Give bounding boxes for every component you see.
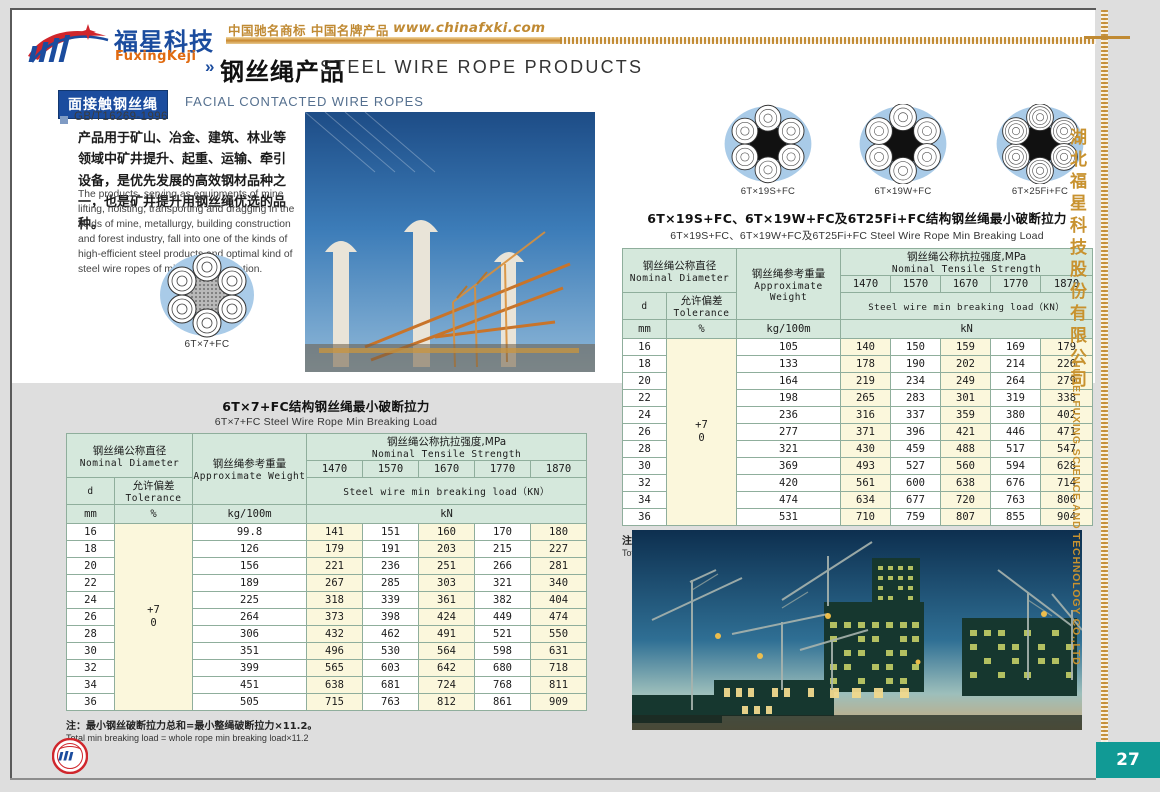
header-nominal-diameter: 钢丝绳公称直径 Nominal Diameter bbox=[67, 434, 193, 478]
cell-breaking-load-1770: 517 bbox=[991, 441, 1041, 458]
cell-diameter: 32 bbox=[623, 475, 667, 492]
right-table-title-english: 6T×19S+FC、6T×19W+FC及6T25Fi+FC Steel Wire… bbox=[622, 228, 1092, 243]
cell-breaking-load-1570: 527 bbox=[891, 458, 941, 475]
cell-breaking-load-1470: 267 bbox=[307, 575, 363, 592]
cell-diameter: 30 bbox=[67, 643, 115, 660]
unit-tolerance: % bbox=[115, 505, 193, 524]
cell-weight: 225 bbox=[193, 592, 307, 609]
header-tolerance: 允许偏差 Tolerance bbox=[667, 293, 737, 320]
cell-breaking-load-1670: 361 bbox=[419, 592, 475, 609]
table-units-row: mm % kg/100m kN bbox=[623, 320, 1093, 339]
header-strength-1670: 1670 bbox=[419, 461, 475, 478]
cell-weight: 99.8 bbox=[193, 524, 307, 541]
construction-photo-bottom bbox=[632, 530, 1082, 730]
left-spec-table: 钢丝绳公称直径 Nominal Diameter 钢丝绳参考重量 Approxi… bbox=[66, 433, 587, 711]
right-table-title-chinese: 6T×19S+FC、6T×19W+FC及6T25Fi+FC结构钢丝绳最小破断拉力 bbox=[622, 208, 1092, 227]
cell-weight: 351 bbox=[193, 643, 307, 660]
left-table-title-english: 6T×7+FC Steel Wire Rope Min Breaking Loa… bbox=[66, 416, 586, 428]
cell-breaking-load-1570: 396 bbox=[891, 424, 941, 441]
cell-breaking-load-1570: 151 bbox=[363, 524, 419, 541]
cell-breaking-load-1670: 303 bbox=[419, 575, 475, 592]
standard-bullet-icon bbox=[60, 116, 68, 124]
cell-breaking-load-1470: 493 bbox=[841, 458, 891, 475]
cell-breaking-load-1870: 281 bbox=[531, 558, 587, 575]
cell-breaking-load-1670: 642 bbox=[419, 660, 475, 677]
cell-weight: 164 bbox=[737, 373, 841, 390]
cell-breaking-load-1670: 249 bbox=[941, 373, 991, 390]
cell-breaking-load-1470: 265 bbox=[841, 390, 891, 407]
cell-breaking-load-1670: 564 bbox=[419, 643, 475, 660]
cell-breaking-load-1470: 221 bbox=[307, 558, 363, 575]
left-table-body: 16+7099.81411511601701801812617919120321… bbox=[67, 524, 587, 711]
header-breaking-load: Steel wire min breaking load（KN） bbox=[307, 478, 587, 505]
cell-diameter: 36 bbox=[623, 509, 667, 526]
cell-breaking-load-1570: 759 bbox=[891, 509, 941, 526]
left-table-block: 6T×7+FC结构钢丝绳最小破断拉力 6T×7+FC Steel Wire Ro… bbox=[66, 396, 586, 743]
cell-breaking-load-1770: 266 bbox=[475, 558, 531, 575]
header-breaking-load: Steel wire min breaking load（KN） bbox=[841, 293, 1093, 320]
cell-diameter: 28 bbox=[67, 626, 115, 643]
page-number-badge: 27 bbox=[1096, 742, 1160, 778]
cell-diameter: 28 bbox=[623, 441, 667, 458]
cell-weight: 306 bbox=[193, 626, 307, 643]
rope-cross-section-group: 6T×19S+FC 6T×19W+FC bbox=[720, 104, 1090, 196]
cell-breaking-load-1770: 264 bbox=[991, 373, 1041, 390]
cell-breaking-load-1470: 178 bbox=[841, 356, 891, 373]
header-approx-weight: 钢丝绳参考重量 Approximate Weight bbox=[193, 434, 307, 505]
header-strength-1670: 1670 bbox=[941, 276, 991, 293]
product-title-english: STEEL WIRE ROPE PRODUCTS bbox=[320, 57, 643, 78]
cell-breaking-load-1670: 720 bbox=[941, 492, 991, 509]
cell-breaking-load-1870: 404 bbox=[531, 592, 587, 609]
left-border-rule bbox=[10, 8, 12, 778]
cell-breaking-load-1470: 316 bbox=[841, 407, 891, 424]
cell-diameter: 36 bbox=[67, 694, 115, 711]
header-strength-1870: 1870 bbox=[531, 461, 587, 478]
cell-breaking-load-1470: 496 bbox=[307, 643, 363, 660]
table-header-row: 钢丝绳公称直径 Nominal Diameter 钢丝绳参考重量 Approxi… bbox=[623, 249, 1093, 276]
catalog-page: 福星科技 FuxingKeji 中国驰名商标 中国名牌产品 www.chinaf… bbox=[0, 0, 1160, 792]
cell-breaking-load-1770: 382 bbox=[475, 592, 531, 609]
top-border-rule bbox=[10, 8, 1096, 10]
right-spec-table: 钢丝绳公称直径 Nominal Diameter 钢丝绳参考重量 Approxi… bbox=[622, 248, 1093, 526]
unit-tolerance: % bbox=[667, 320, 737, 339]
company-seal-emblem-icon bbox=[52, 738, 88, 774]
cell-diameter: 20 bbox=[623, 373, 667, 390]
cell-breaking-load-1770: 521 bbox=[475, 626, 531, 643]
cell-breaking-load-1770: 861 bbox=[475, 694, 531, 711]
cell-breaking-load-1470: 373 bbox=[307, 609, 363, 626]
cell-breaking-load-1670: 812 bbox=[419, 694, 475, 711]
cell-breaking-load-1570: 234 bbox=[891, 373, 941, 390]
cell-weight: 399 bbox=[193, 660, 307, 677]
cell-breaking-load-1670: 251 bbox=[419, 558, 475, 575]
company-logo: 福星科技 FuxingKeji bbox=[26, 20, 216, 68]
header-strength-1470: 1470 bbox=[841, 276, 891, 293]
table-row: 16+70105140150159169179 bbox=[623, 339, 1093, 356]
cell-weight: 277 bbox=[737, 424, 841, 441]
cell-breaking-load-1870: 474 bbox=[531, 609, 587, 626]
cell-diameter: 16 bbox=[67, 524, 115, 541]
table-units-row: mm % kg/100m kN bbox=[67, 505, 587, 524]
cell-diameter: 20 bbox=[67, 558, 115, 575]
cell-breaking-load-1770: 215 bbox=[475, 541, 531, 558]
cell-weight: 264 bbox=[193, 609, 307, 626]
cell-breaking-load-1870: 471 bbox=[1041, 424, 1093, 441]
unit-diameter: mm bbox=[67, 505, 115, 524]
cell-breaking-load-1770: 449 bbox=[475, 609, 531, 626]
cell-breaking-load-1770: 763 bbox=[991, 492, 1041, 509]
cell-breaking-load-1870: 714 bbox=[1041, 475, 1093, 492]
cell-breaking-load-1570: 337 bbox=[891, 407, 941, 424]
cell-breaking-load-1770: 676 bbox=[991, 475, 1041, 492]
cell-breaking-load-1470: 634 bbox=[841, 492, 891, 509]
section-badge-english: FACIAL CONTACTED WIRE ROPES bbox=[185, 94, 424, 109]
rope-caption-left: 6T×7+FC bbox=[152, 339, 262, 350]
cell-diameter: 18 bbox=[67, 541, 115, 558]
cell-breaking-load-1870: 631 bbox=[531, 643, 587, 660]
sidebar-company-chinese: 湖北福星科技股份有限公司 bbox=[1063, 128, 1089, 392]
left-table-title-chinese: 6T×7+FC结构钢丝绳最小破断拉力 bbox=[66, 396, 586, 415]
cell-breaking-load-1470: 561 bbox=[841, 475, 891, 492]
cell-breaking-load-1670: 203 bbox=[419, 541, 475, 558]
vertical-gold-strip-dots bbox=[1101, 10, 1108, 778]
cell-breaking-load-1770: 170 bbox=[475, 524, 531, 541]
header-nominal-diameter: 钢丝绳公称直径 Nominal Diameter bbox=[623, 249, 737, 293]
cell-diameter: 32 bbox=[67, 660, 115, 677]
cell-breaking-load-1670: 202 bbox=[941, 356, 991, 373]
cell-breaking-load-1570: 530 bbox=[363, 643, 419, 660]
cell-breaking-load-1870: 340 bbox=[531, 575, 587, 592]
header-tolerance: 允许偏差 Tolerance bbox=[115, 478, 193, 505]
cell-weight: 236 bbox=[737, 407, 841, 424]
header-d-symbol: d bbox=[623, 293, 667, 320]
product-title-arrow-icon: » bbox=[205, 57, 214, 77]
table-subheader-row: d 允许偏差 Tolerance Steel wire min breaking… bbox=[623, 293, 1093, 320]
unit-weight: kg/100m bbox=[193, 505, 307, 524]
cell-weight: 156 bbox=[193, 558, 307, 575]
cell-diameter: 22 bbox=[623, 390, 667, 407]
cell-breaking-load-1870: 904 bbox=[1041, 509, 1093, 526]
cell-breaking-load-1470: 179 bbox=[307, 541, 363, 558]
cell-breaking-load-1470: 318 bbox=[307, 592, 363, 609]
cell-breaking-load-1470: 638 bbox=[307, 677, 363, 694]
cell-diameter: 34 bbox=[623, 492, 667, 509]
cell-breaking-load-1570: 763 bbox=[363, 694, 419, 711]
cell-diameter: 24 bbox=[67, 592, 115, 609]
rope-cross-section-6t19s-icon bbox=[720, 104, 816, 184]
cell-breaking-load-1770: 446 bbox=[991, 424, 1041, 441]
standard-code: GB/T16269-1996 bbox=[74, 111, 168, 123]
cell-breaking-load-1570: 191 bbox=[363, 541, 419, 558]
cell-weight: 505 bbox=[193, 694, 307, 711]
cell-breaking-load-1470: 219 bbox=[841, 373, 891, 390]
header-strength-1570: 1570 bbox=[891, 276, 941, 293]
cell-breaking-load-1570: 459 bbox=[891, 441, 941, 458]
cell-breaking-load-1870: 628 bbox=[1041, 458, 1093, 475]
cell-weight: 126 bbox=[193, 541, 307, 558]
cell-breaking-load-1570: 398 bbox=[363, 609, 419, 626]
bottom-border-rule bbox=[10, 778, 1096, 780]
header-tensile-strength: 钢丝绳公称抗拉强度,MPa Nominal Tensile Strength bbox=[307, 434, 587, 461]
vertical-strip-crossbar bbox=[1084, 36, 1130, 39]
cell-breaking-load-1570: 681 bbox=[363, 677, 419, 694]
cell-weight: 105 bbox=[737, 339, 841, 356]
header-approx-weight: 钢丝绳参考重量 Approximate Weight bbox=[737, 249, 841, 320]
logo-english-name: FuxingKeji bbox=[115, 49, 196, 64]
cell-breaking-load-1470: 715 bbox=[307, 694, 363, 711]
cell-diameter: 34 bbox=[67, 677, 115, 694]
cell-breaking-load-1870: 718 bbox=[531, 660, 587, 677]
cell-weight: 133 bbox=[737, 356, 841, 373]
cell-breaking-load-1870: 547 bbox=[1041, 441, 1093, 458]
cell-breaking-load-1570: 603 bbox=[363, 660, 419, 677]
construction-photo-top bbox=[305, 112, 595, 372]
cell-breaking-load-1470: 430 bbox=[841, 441, 891, 458]
website-url[interactable]: www.chinafxki.com bbox=[393, 20, 545, 36]
table-subheader-row: d 允许偏差 Tolerance Steel wire min breaking… bbox=[67, 478, 587, 505]
cell-breaking-load-1670: 488 bbox=[941, 441, 991, 458]
cell-breaking-load-1770: 594 bbox=[991, 458, 1041, 475]
cell-breaking-load-1870: 550 bbox=[531, 626, 587, 643]
cell-breaking-load-1470: 371 bbox=[841, 424, 891, 441]
cell-breaking-load-1570: 677 bbox=[891, 492, 941, 509]
cell-breaking-load-1470: 710 bbox=[841, 509, 891, 526]
cell-diameter: 24 bbox=[623, 407, 667, 424]
header-strength-1470: 1470 bbox=[307, 461, 363, 478]
cell-breaking-load-1670: 359 bbox=[941, 407, 991, 424]
header-strength-1570: 1570 bbox=[363, 461, 419, 478]
cell-breaking-load-1870: 806 bbox=[1041, 492, 1093, 509]
cell-breaking-load-1670: 807 bbox=[941, 509, 991, 526]
cell-breaking-load-1670: 159 bbox=[941, 339, 991, 356]
unit-diameter: mm bbox=[623, 320, 667, 339]
table-row: 16+7099.8141151160170180 bbox=[67, 524, 587, 541]
cell-diameter: 26 bbox=[623, 424, 667, 441]
cell-breaking-load-1870: 180 bbox=[531, 524, 587, 541]
cell-breaking-load-1870: 338 bbox=[1041, 390, 1093, 407]
cell-breaking-load-1670: 424 bbox=[419, 609, 475, 626]
cell-breaking-load-1570: 600 bbox=[891, 475, 941, 492]
cell-breaking-load-1770: 855 bbox=[991, 509, 1041, 526]
unit-breaking: kN bbox=[307, 505, 587, 524]
cell-weight: 474 bbox=[737, 492, 841, 509]
cell-breaking-load-1570: 190 bbox=[891, 356, 941, 373]
right-table-block: 6T×19S+FC、6T×19W+FC及6T25Fi+FC结构钢丝绳最小破断拉力… bbox=[622, 208, 1092, 558]
cell-breaking-load-1670: 491 bbox=[419, 626, 475, 643]
header-strength-1770: 1770 bbox=[991, 276, 1041, 293]
cell-diameter: 30 bbox=[623, 458, 667, 475]
fuxing-swoosh-icon bbox=[26, 24, 112, 68]
cell-weight: 451 bbox=[193, 677, 307, 694]
cell-breaking-load-1870: 811 bbox=[531, 677, 587, 694]
cell-breaking-load-1870: 402 bbox=[1041, 407, 1093, 424]
left-table-note-english: Total min breaking load = whole rope min… bbox=[66, 733, 586, 743]
cell-breaking-load-1570: 462 bbox=[363, 626, 419, 643]
sidebar-company-english: HUBEI FUXING SCIENCE AND TECHNOLOGY CO.,… bbox=[1070, 360, 1082, 665]
cell-breaking-load-1670: 301 bbox=[941, 390, 991, 407]
cell-diameter: 16 bbox=[623, 339, 667, 356]
cell-breaking-load-1770: 214 bbox=[991, 356, 1041, 373]
cell-breaking-load-1670: 421 bbox=[941, 424, 991, 441]
cell-breaking-load-1870: 227 bbox=[531, 541, 587, 558]
header-strength-1770: 1770 bbox=[475, 461, 531, 478]
gold-divider-dots bbox=[560, 37, 1096, 44]
cell-weight: 420 bbox=[737, 475, 841, 492]
cell-weight: 531 bbox=[737, 509, 841, 526]
cell-breaking-load-1570: 283 bbox=[891, 390, 941, 407]
rope-cross-section-6t19w-icon bbox=[855, 104, 951, 184]
cell-breaking-load-1870: 909 bbox=[531, 694, 587, 711]
cell-breaking-load-1570: 285 bbox=[363, 575, 419, 592]
rope-caption-1: 6T×19W+FC bbox=[855, 186, 951, 197]
cell-weight: 369 bbox=[737, 458, 841, 475]
cell-breaking-load-1670: 560 bbox=[941, 458, 991, 475]
cell-breaking-load-1570: 236 bbox=[363, 558, 419, 575]
cell-breaking-load-1670: 724 bbox=[419, 677, 475, 694]
cell-breaking-load-1470: 432 bbox=[307, 626, 363, 643]
header-tensile-strength: 钢丝绳公称抗拉强度,MPa Nominal Tensile Strength bbox=[841, 249, 1093, 276]
left-table-note-chinese: 注：最小钢丝破断拉力总和=最小整绳破断拉力×11.2。 bbox=[66, 717, 586, 732]
cell-breaking-load-1470: 140 bbox=[841, 339, 891, 356]
cell-breaking-load-1570: 339 bbox=[363, 592, 419, 609]
cell-weight: 189 bbox=[193, 575, 307, 592]
cell-weight: 321 bbox=[737, 441, 841, 458]
cell-breaking-load-1670: 160 bbox=[419, 524, 475, 541]
cell-breaking-load-1770: 380 bbox=[991, 407, 1041, 424]
cell-diameter: 18 bbox=[623, 356, 667, 373]
rope-caption-0: 6T×19S+FC bbox=[720, 186, 816, 197]
header-d-symbol: d bbox=[67, 478, 115, 505]
cell-diameter: 26 bbox=[67, 609, 115, 626]
cell-weight: 198 bbox=[737, 390, 841, 407]
cell-tolerance: +70 bbox=[667, 339, 737, 526]
cell-breaking-load-1770: 319 bbox=[991, 390, 1041, 407]
cell-breaking-load-1770: 169 bbox=[991, 339, 1041, 356]
cell-breaking-load-1570: 150 bbox=[891, 339, 941, 356]
cell-breaking-load-1770: 680 bbox=[475, 660, 531, 677]
cell-diameter: 22 bbox=[67, 575, 115, 592]
unit-weight: kg/100m bbox=[737, 320, 841, 339]
table-header-row: 钢丝绳公称直径 Nominal Diameter 钢丝绳参考重量 Approxi… bbox=[67, 434, 587, 461]
cell-breaking-load-1770: 321 bbox=[475, 575, 531, 592]
rope-cross-section-6t7fc-icon bbox=[155, 252, 259, 338]
cell-breaking-load-1470: 565 bbox=[307, 660, 363, 677]
unit-breaking: kN bbox=[841, 320, 1093, 339]
right-table-body: 16+7010514015015916917918133178190202214… bbox=[623, 339, 1093, 526]
cell-breaking-load-1770: 768 bbox=[475, 677, 531, 694]
cell-breaking-load-1470: 141 bbox=[307, 524, 363, 541]
cell-breaking-load-1770: 598 bbox=[475, 643, 531, 660]
cell-breaking-load-1670: 638 bbox=[941, 475, 991, 492]
cell-tolerance: +70 bbox=[115, 524, 193, 711]
